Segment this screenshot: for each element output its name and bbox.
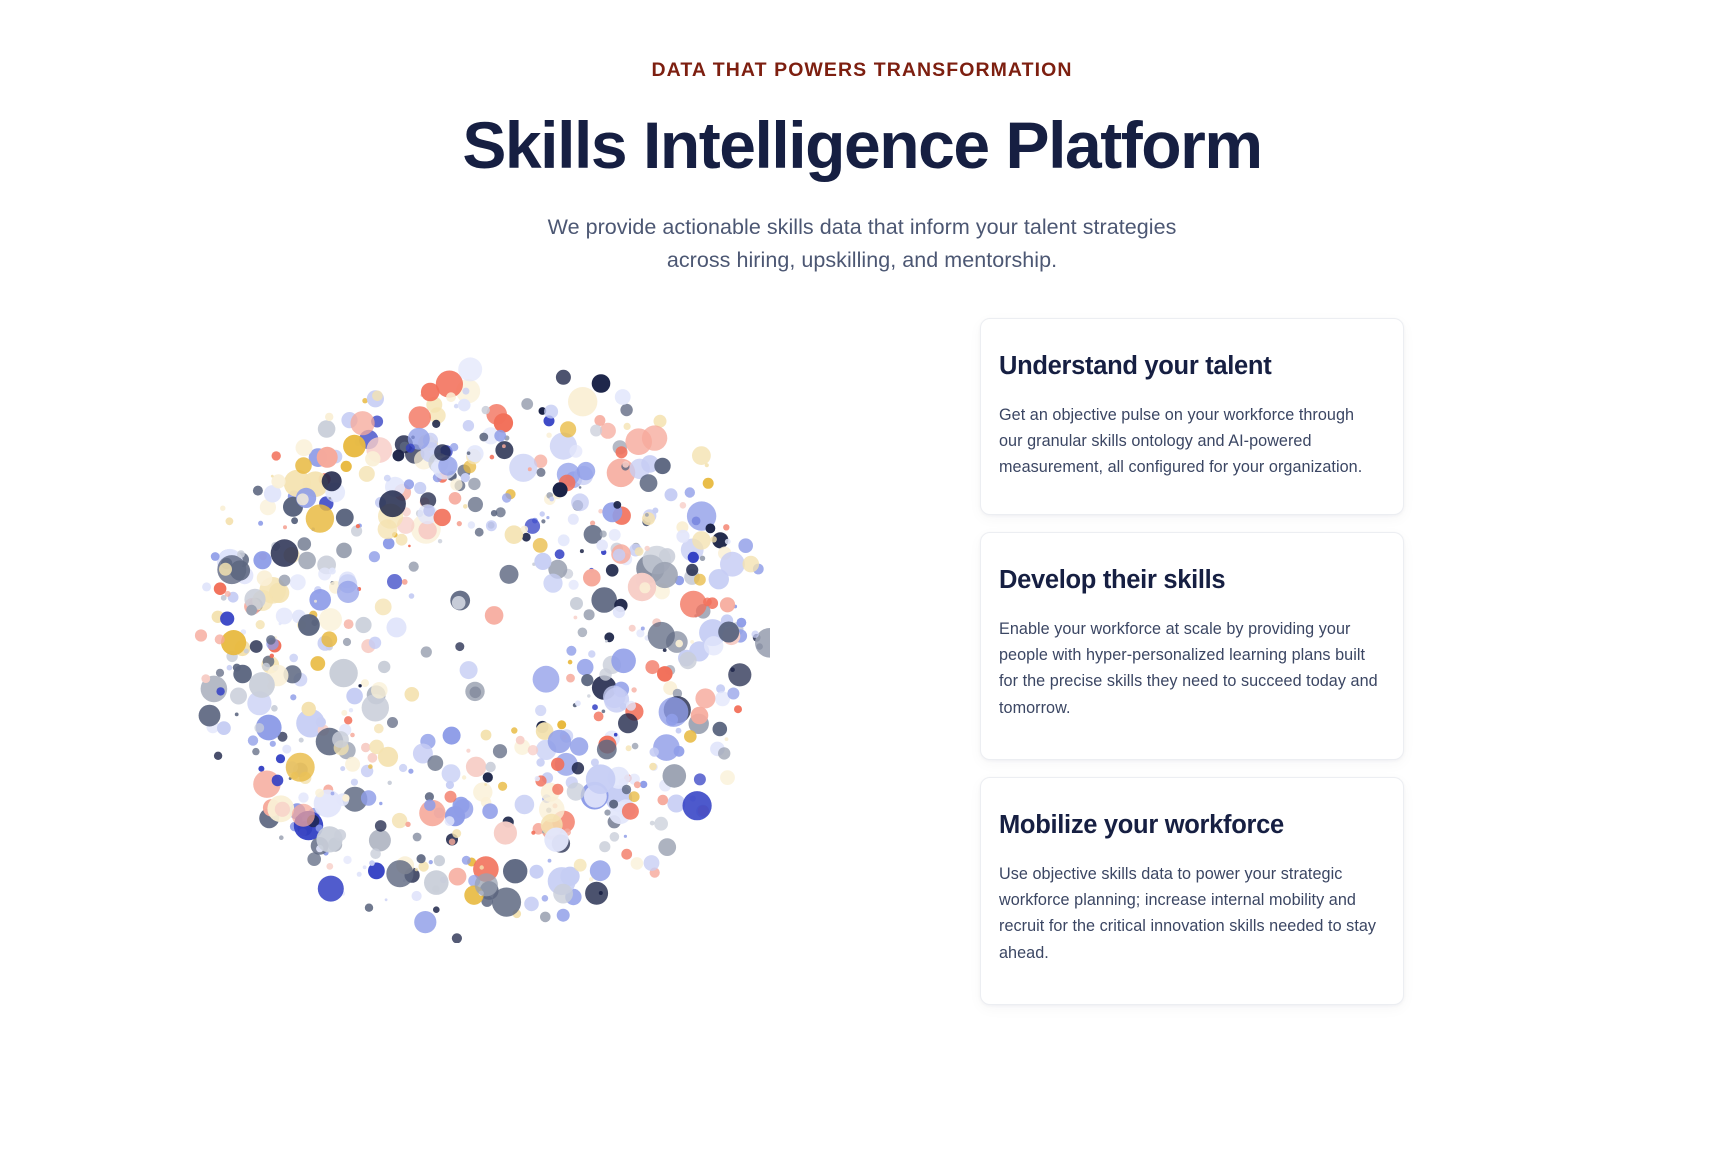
skill-dot xyxy=(609,800,618,809)
skill-dot xyxy=(568,387,597,416)
skill-dot xyxy=(446,392,456,402)
feature-card-title: Develop their skills xyxy=(999,565,1381,596)
skill-dot xyxy=(317,447,338,468)
skill-dot xyxy=(618,713,638,733)
skill-dot xyxy=(219,563,232,576)
skill-dot xyxy=(659,697,689,727)
skill-dot xyxy=(216,669,224,677)
skill-dot xyxy=(449,868,467,886)
skill-dot xyxy=(552,784,563,795)
skill-dot xyxy=(570,597,583,610)
skill-dot xyxy=(650,821,655,826)
skill-dot xyxy=(467,451,471,455)
skill-dot xyxy=(257,570,273,586)
skill-dot xyxy=(650,747,659,756)
skill-dot xyxy=(452,829,461,838)
skill-dot xyxy=(215,634,225,644)
skill-dot xyxy=(590,425,602,437)
skill-dot xyxy=(711,536,717,542)
skill-dot xyxy=(450,443,458,451)
skill-dot xyxy=(599,841,610,852)
skill-dot xyxy=(743,556,760,573)
skill-dot xyxy=(369,740,384,755)
skill-dot xyxy=(613,549,625,561)
skill-dot xyxy=(610,832,620,842)
skill-dot xyxy=(665,488,678,501)
skill-dot xyxy=(718,622,739,643)
skill-dot xyxy=(375,599,392,616)
skill-dot xyxy=(667,795,685,813)
skill-dot xyxy=(460,661,478,679)
skill-dot xyxy=(351,411,375,435)
skill-dot xyxy=(342,794,349,801)
skill-dot xyxy=(644,855,660,871)
skills-dot-cluster-graphic xyxy=(190,343,770,943)
skill-dot xyxy=(599,891,603,895)
feature-card-title: Understand your talent xyxy=(999,351,1381,382)
skill-dot xyxy=(571,493,589,511)
skill-dot xyxy=(358,684,361,687)
skill-dot xyxy=(225,591,231,597)
skill-dot xyxy=(365,904,373,912)
skill-dot xyxy=(387,617,407,637)
skill-dot xyxy=(341,461,352,472)
skill-dot xyxy=(346,688,363,705)
skill-dot xyxy=(540,912,551,923)
skill-dot xyxy=(657,666,673,682)
skill-dot xyxy=(725,737,729,741)
skill-dot xyxy=(486,520,497,531)
skill-dot xyxy=(412,891,422,901)
skill-dot xyxy=(271,539,299,567)
skill-dot xyxy=(679,652,696,669)
skill-dot xyxy=(685,487,695,497)
skill-dot xyxy=(356,524,360,528)
skill-dot xyxy=(319,608,342,631)
skill-dot xyxy=(271,475,274,478)
skill-dot xyxy=(480,865,484,869)
skill-dot xyxy=(530,865,544,879)
skill-dot xyxy=(604,810,610,816)
skill-dot xyxy=(484,783,487,786)
skill-dot xyxy=(375,820,387,832)
skill-dot xyxy=(624,423,631,430)
skill-dot xyxy=(414,911,436,933)
skill-dot xyxy=(485,606,504,625)
skill-dot xyxy=(720,597,735,612)
skill-dot xyxy=(622,461,629,468)
skill-dot xyxy=(343,638,351,646)
skill-dot xyxy=(654,817,668,831)
skill-dot xyxy=(233,664,241,672)
skill-dot xyxy=(289,654,298,663)
skill-dot xyxy=(384,475,391,482)
feature-card-body: Use objective skills data to power your … xyxy=(999,861,1381,966)
skill-dot xyxy=(387,574,402,589)
skill-dot xyxy=(291,517,298,524)
skill-dot xyxy=(475,873,498,896)
skill-dot xyxy=(591,587,617,613)
skill-dot xyxy=(351,779,358,786)
skill-dot xyxy=(626,701,636,711)
skill-dot xyxy=(683,791,712,820)
skill-dot xyxy=(379,490,406,517)
skill-dot xyxy=(515,795,535,815)
skill-dot xyxy=(592,374,611,393)
skill-dot xyxy=(553,482,568,497)
skill-dot xyxy=(543,574,562,593)
skill-dot xyxy=(615,389,631,405)
skill-dot xyxy=(622,803,639,820)
skill-dot xyxy=(652,508,658,514)
main-content: Understand your talent Get an objective … xyxy=(0,318,1724,1078)
skill-dot xyxy=(297,493,309,505)
skill-dot xyxy=(318,420,336,438)
skill-dot xyxy=(362,694,389,721)
skill-dot xyxy=(462,388,469,395)
skill-dot xyxy=(462,775,466,779)
skill-dot xyxy=(494,430,506,442)
skill-dot xyxy=(434,509,451,526)
skill-dot xyxy=(553,884,573,904)
skill-dot xyxy=(531,831,535,835)
skill-dot xyxy=(322,471,342,491)
skill-dot xyxy=(694,773,706,785)
skill-dot xyxy=(536,758,544,766)
skill-dot xyxy=(368,764,373,769)
skill-dot xyxy=(282,745,291,754)
skill-dot xyxy=(331,792,335,796)
skill-dot xyxy=(475,528,484,537)
skill-dot xyxy=(658,838,676,856)
skill-dot xyxy=(578,628,588,638)
skill-dot xyxy=(237,550,245,558)
skill-dot xyxy=(692,446,711,465)
skill-dot xyxy=(521,398,533,410)
skill-dot xyxy=(275,802,290,817)
skill-dot xyxy=(455,642,464,651)
skill-dot xyxy=(220,612,234,626)
skill-dot xyxy=(276,608,293,625)
skill-dot xyxy=(429,860,433,864)
skill-dot xyxy=(214,752,222,760)
skill-dot xyxy=(533,666,560,693)
skill-dot xyxy=(421,646,432,657)
skill-dot xyxy=(569,445,582,458)
skill-dot xyxy=(649,763,657,771)
skill-dot xyxy=(598,509,603,514)
skill-dot xyxy=(341,710,347,716)
skill-dot xyxy=(720,552,745,577)
skill-dot xyxy=(569,580,579,590)
skill-dot xyxy=(548,730,571,753)
skill-dot xyxy=(596,540,608,552)
skill-dot xyxy=(449,492,462,505)
skill-dot xyxy=(369,829,391,851)
skill-dot xyxy=(694,574,706,586)
skill-dot xyxy=(551,758,564,771)
skill-dot xyxy=(325,413,333,421)
page-title: Skills Intelligence Platform xyxy=(0,109,1724,183)
skill-dot xyxy=(737,618,747,628)
skill-dot xyxy=(368,753,378,763)
skill-dot xyxy=(611,649,636,674)
skill-dot xyxy=(541,519,545,523)
skill-dot xyxy=(202,582,211,591)
skill-dot xyxy=(597,740,617,760)
skill-dot xyxy=(405,822,410,827)
skill-dot xyxy=(521,526,528,533)
skill-dot xyxy=(290,694,296,700)
skill-dot xyxy=(316,826,342,852)
skill-dot xyxy=(254,723,264,733)
skill-dot xyxy=(586,764,616,794)
skill-dot xyxy=(414,482,426,494)
skill-dot xyxy=(676,530,689,543)
skill-dot xyxy=(449,839,456,846)
skill-dot xyxy=(386,860,413,887)
skill-dot xyxy=(730,667,735,672)
skill-dot xyxy=(316,717,326,727)
skill-dot xyxy=(272,775,284,787)
skill-dot xyxy=(720,770,735,785)
skill-dot xyxy=(639,582,650,593)
skill-dot xyxy=(629,791,640,802)
skill-dot xyxy=(345,757,360,772)
skill-dot xyxy=(613,606,625,618)
skill-dot xyxy=(298,537,312,551)
skill-dot xyxy=(409,593,415,599)
skill-dot xyxy=(614,733,618,737)
skill-dot xyxy=(635,547,644,556)
skill-dot xyxy=(343,435,366,458)
skill-dot xyxy=(620,703,627,710)
skill-dot xyxy=(421,383,440,402)
skill-dot xyxy=(676,728,682,734)
feature-card-develop-their-skills[interactable]: Develop their skills Enable your workfor… xyxy=(980,532,1404,760)
skill-dot xyxy=(258,766,264,772)
skill-dot xyxy=(581,674,593,686)
skill-dot xyxy=(306,504,334,532)
skill-dot xyxy=(680,591,707,618)
skill-dot xyxy=(195,629,207,641)
skill-dot xyxy=(336,543,352,559)
skill-dot xyxy=(631,857,644,870)
skill-dot xyxy=(442,764,461,783)
skill-dot xyxy=(445,816,455,826)
eyebrow-label: DATA THAT POWERS TRANSFORMATION xyxy=(0,58,1724,83)
skill-dot xyxy=(549,497,554,502)
skill-dot xyxy=(752,631,759,638)
skill-dot xyxy=(674,746,685,757)
skill-dot xyxy=(606,564,619,577)
skill-dot xyxy=(379,802,382,805)
skill-dot xyxy=(574,616,578,620)
skill-dot xyxy=(613,501,621,509)
skill-dot xyxy=(609,529,621,541)
skill-dot xyxy=(226,517,234,525)
skill-dot xyxy=(579,486,582,489)
page-header: DATA THAT POWERS TRANSFORMATION Skills I… xyxy=(0,0,1724,277)
page-subtitle-line-2: across hiring, upskilling, and mentorshi… xyxy=(0,244,1724,277)
skill-dot xyxy=(642,425,667,450)
skill-dot xyxy=(713,722,728,737)
skill-dot xyxy=(548,859,552,863)
skill-dot xyxy=(318,876,344,902)
skill-dot xyxy=(700,556,705,561)
skill-dot xyxy=(590,521,595,526)
skill-dot xyxy=(432,420,440,428)
skill-dot xyxy=(540,511,545,516)
skill-dot xyxy=(486,404,507,425)
skill-dot xyxy=(465,682,484,701)
skill-dot xyxy=(388,781,392,785)
skill-dot xyxy=(493,744,507,758)
skill-dot xyxy=(473,782,492,801)
skill-dot xyxy=(457,521,462,526)
skill-dot xyxy=(468,497,483,512)
skill-dot xyxy=(560,421,576,437)
skill-dot xyxy=(211,552,220,561)
skill-dot xyxy=(350,733,355,738)
skill-dot xyxy=(309,589,331,611)
skill-dot xyxy=(434,444,451,461)
skill-dot xyxy=(227,665,233,671)
dot-cluster-svg xyxy=(190,343,770,943)
skill-dot xyxy=(296,439,313,456)
skill-dot xyxy=(371,682,388,699)
skill-dot xyxy=(387,717,398,728)
feature-card-understand-your-talent[interactable]: Understand your talent Get an objective … xyxy=(980,318,1404,515)
skill-dot xyxy=(337,581,359,603)
skill-dot xyxy=(583,569,601,587)
feature-card-mobilize-your-workforce[interactable]: Mobilize your workforce Use objective sk… xyxy=(980,777,1404,1005)
skill-dot xyxy=(452,933,462,943)
skill-dot xyxy=(688,552,699,563)
skill-dot xyxy=(216,687,224,695)
skill-dot xyxy=(599,668,611,680)
skill-dot xyxy=(462,856,471,865)
skill-dot xyxy=(546,516,549,519)
skill-dot xyxy=(359,466,375,482)
skill-dot xyxy=(248,735,258,745)
skill-dot xyxy=(482,803,498,819)
skill-dot xyxy=(199,705,221,727)
skill-dot xyxy=(594,712,604,722)
page-subtitle: We provide actionable skills data that i… xyxy=(0,211,1724,276)
skill-dot xyxy=(290,574,306,590)
skill-dot xyxy=(498,782,507,791)
skill-dot xyxy=(270,741,276,747)
skill-dot xyxy=(408,769,413,774)
skill-dot xyxy=(703,478,714,489)
skill-dot xyxy=(566,674,575,683)
skill-dot xyxy=(298,552,316,570)
skill-dot xyxy=(495,441,513,459)
skill-dot xyxy=(537,468,546,477)
skill-dot xyxy=(485,762,495,772)
skill-dot xyxy=(505,525,524,544)
skill-dot xyxy=(326,863,333,870)
skill-dot xyxy=(286,753,315,782)
skill-dot xyxy=(622,785,631,794)
skill-dot xyxy=(555,549,565,559)
skill-dot xyxy=(402,579,408,585)
skill-dot xyxy=(503,859,527,883)
skill-dot xyxy=(640,474,658,492)
skill-dot xyxy=(466,749,470,753)
skill-dot xyxy=(626,745,632,751)
skill-dot xyxy=(725,539,731,545)
skill-dot xyxy=(372,391,383,402)
skill-dot xyxy=(220,506,225,511)
skill-dot xyxy=(315,789,324,798)
skill-dot xyxy=(632,743,639,750)
skill-dot xyxy=(283,525,287,529)
skill-dot xyxy=(577,659,594,676)
skill-dot xyxy=(253,551,271,569)
skill-dot xyxy=(483,772,493,782)
skill-dot xyxy=(616,446,628,458)
skill-dot xyxy=(568,660,573,665)
skill-dot xyxy=(502,444,506,448)
skill-dot xyxy=(575,700,581,706)
skill-dot xyxy=(329,568,336,575)
skill-dot xyxy=(314,600,317,603)
page-subtitle-line-1: We provide actionable skills data that i… xyxy=(0,211,1724,244)
skill-dot xyxy=(528,467,532,471)
skill-dot xyxy=(686,564,698,576)
skill-dot xyxy=(592,704,598,710)
skill-dot xyxy=(675,640,683,648)
skill-dot xyxy=(279,622,282,625)
skill-dot xyxy=(266,635,276,645)
skill-dot xyxy=(692,531,711,550)
skill-dot xyxy=(572,762,584,774)
skill-dot xyxy=(230,688,247,705)
skill-dot xyxy=(461,473,470,482)
skill-dot xyxy=(458,357,482,381)
skill-dot xyxy=(690,640,694,644)
skill-dot xyxy=(336,509,354,527)
skill-dot xyxy=(201,674,210,683)
skill-dot xyxy=(417,854,426,863)
skill-dot xyxy=(634,781,641,788)
skill-dot xyxy=(600,531,607,538)
skill-dot xyxy=(557,720,566,729)
skill-dot xyxy=(728,663,751,686)
skill-dot xyxy=(580,549,584,553)
skill-dot xyxy=(516,736,525,745)
skill-dot xyxy=(556,370,571,385)
visual-column xyxy=(0,318,980,1038)
skill-dot xyxy=(361,743,370,752)
skill-dot xyxy=(258,521,263,526)
skill-dot xyxy=(629,625,636,632)
skill-dot xyxy=(600,423,616,439)
skill-dot xyxy=(570,737,588,755)
skill-dot xyxy=(544,405,558,419)
skill-dot xyxy=(654,458,670,474)
skill-dot xyxy=(502,493,512,503)
skill-dot xyxy=(528,745,538,755)
skill-dot xyxy=(256,620,265,629)
skill-dot xyxy=(365,451,380,466)
skill-dot xyxy=(567,783,585,801)
skill-dot xyxy=(427,755,443,771)
skill-dot xyxy=(370,848,381,859)
skill-dot xyxy=(620,404,632,416)
